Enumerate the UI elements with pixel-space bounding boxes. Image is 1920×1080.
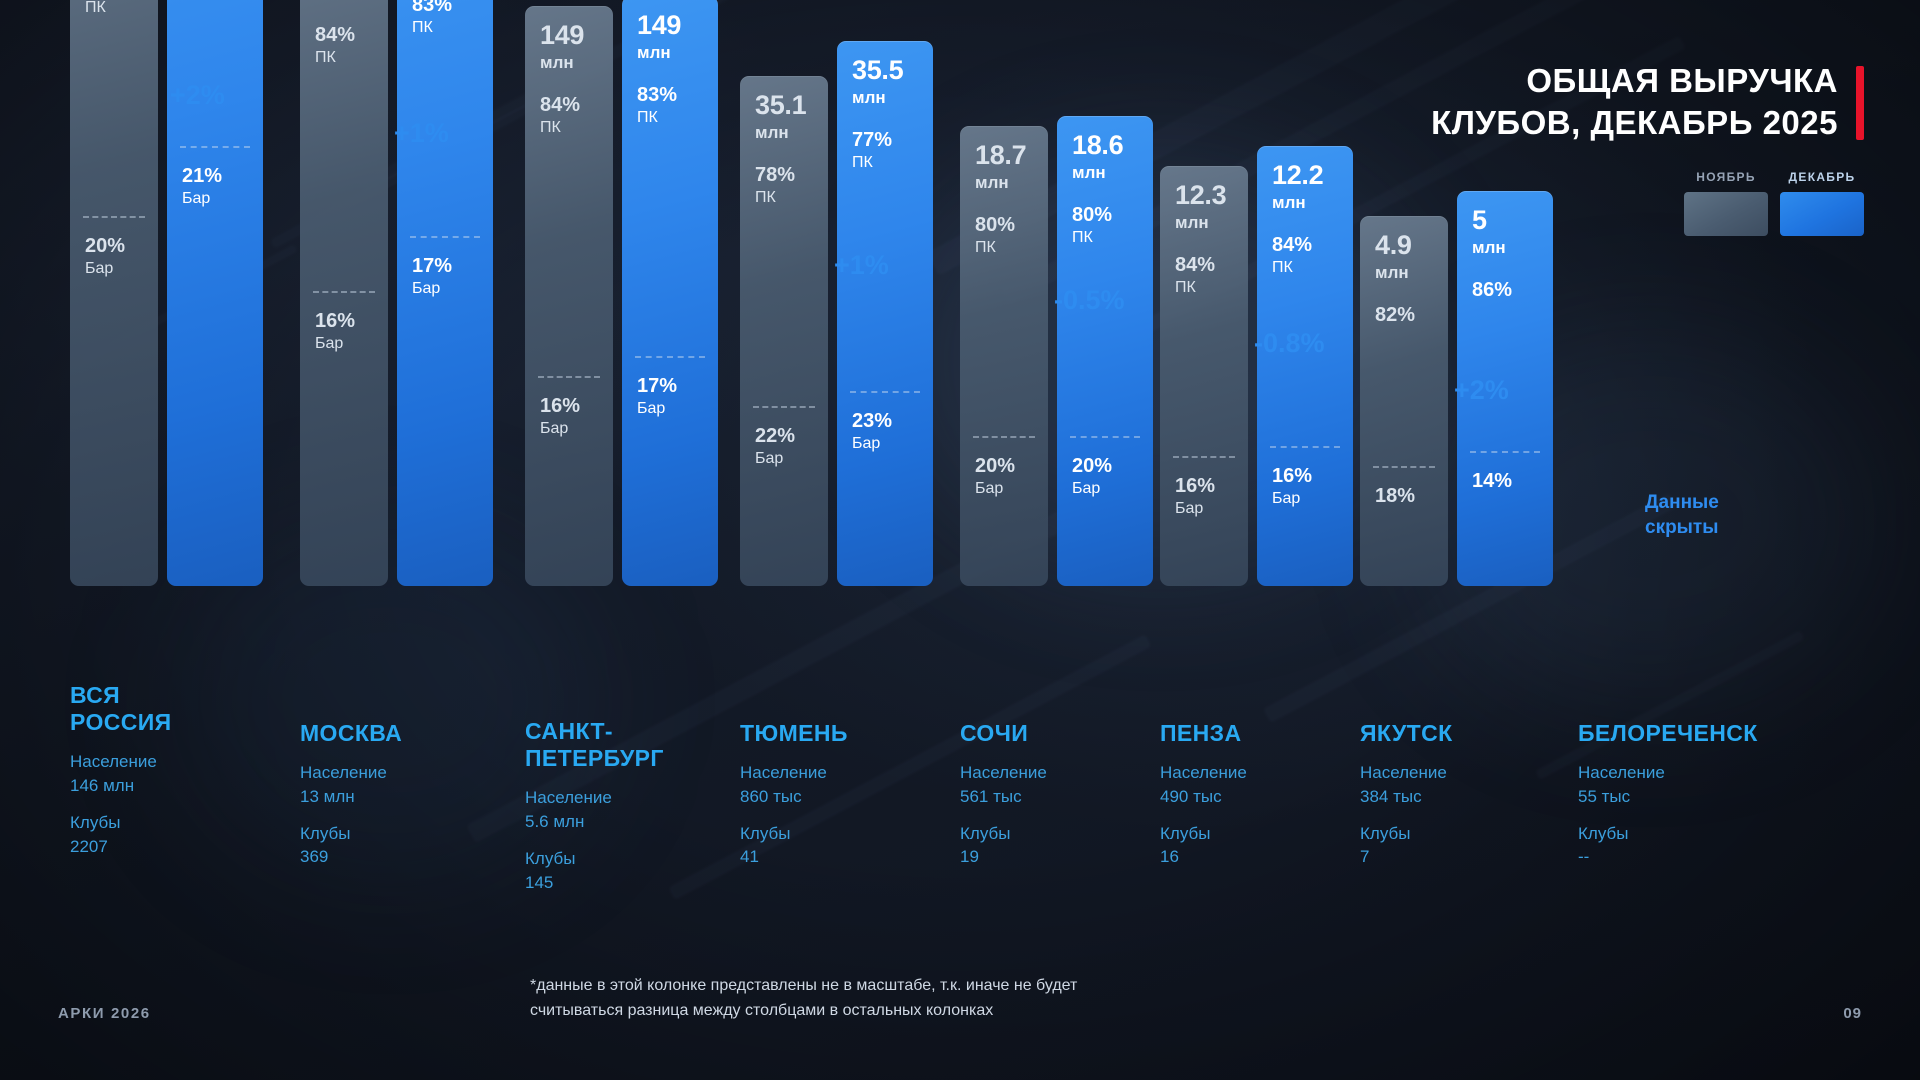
bar-bar-section: 20%Бар: [1072, 456, 1112, 499]
city-population: Население146 млн: [70, 750, 172, 797]
bar-group: 18.7млн80%ПК20%Бар18.6млн80%ПК20%Бар-0.5…: [960, 0, 1190, 1080]
bar-bar-label: Бар: [637, 399, 677, 419]
bar-unit: млн: [1272, 192, 1338, 213]
bar-split-divider: [1070, 436, 1140, 438]
bar-bar-label: Бар: [540, 419, 580, 439]
bar-pc-label: ПК: [755, 188, 813, 208]
clubs-label: Клубы: [1360, 822, 1453, 845]
population-label: Население: [960, 761, 1047, 784]
bar-unit: млн: [755, 122, 813, 143]
clubs-value: 19: [960, 845, 1047, 868]
legend-label-november: НОЯБРЬ: [1696, 170, 1756, 184]
population-value: 13 млн: [300, 785, 402, 808]
bar-bar-percent: 16%: [1272, 466, 1312, 487]
bar-pc-percent: 80%: [1072, 205, 1138, 226]
bar-value: 18.7: [975, 142, 1033, 169]
bar-value: 4.9: [1375, 232, 1433, 259]
bar-split-divider: [850, 391, 920, 393]
bar-bar-label: Бар: [182, 189, 222, 209]
bar-pair: 12.3млн84%ПК16%Бар12.2млн84%ПК16%Бар: [1160, 146, 1353, 586]
bar-bar-section: 17%Бар: [637, 376, 677, 419]
city-clubs: Клубы--: [1578, 822, 1758, 869]
bar-unit: млн: [637, 42, 703, 63]
bar-bar-percent: 20%: [1072, 456, 1112, 477]
bar-group: 1 921млн80%ПК20%Бар1 952млн79%ПК21%Бар+2…: [70, 0, 300, 1080]
population-label: Население: [525, 786, 664, 809]
clubs-label: Клубы: [1578, 822, 1758, 845]
bar-november[interactable]: 4.9млн82%18%: [1360, 216, 1448, 586]
bar-split-divider: [1373, 466, 1435, 468]
bar-bar-percent: 16%: [540, 396, 580, 417]
bar-bar-section: 16%Бар: [1175, 476, 1215, 519]
bar-pc-percent: 84%: [315, 25, 373, 46]
page-title-line1: ОБЩАЯ ВЫРУЧКА: [1431, 60, 1838, 102]
bar-november[interactable]: 1 921млн80%ПК20%Бар: [70, 0, 158, 586]
bar-bar-label: Бар: [1072, 479, 1112, 499]
page-title-line2: КЛУБОВ, ДЕКАБРЬ 2025: [1431, 102, 1838, 144]
bar-split-divider: [538, 376, 600, 378]
bar-pc-label: ПК: [852, 153, 918, 173]
city-stats: Население561 тысКлубы19: [960, 761, 1047, 869]
bar-split-divider: [753, 406, 815, 408]
bar-group: 12.3млн84%ПК16%Бар12.2млн84%ПК16%Бар-0.8…: [1160, 0, 1390, 1080]
clubs-value: 145: [525, 871, 664, 894]
bar-pc-percent: 78%: [755, 165, 813, 186]
city-name: БЕЛОРЕЧЕНСК: [1578, 720, 1758, 747]
page-title: ОБЩАЯ ВЫРУЧКА КЛУБОВ, ДЕКАБРЬ 2025: [1431, 60, 1838, 144]
population-label: Население: [740, 761, 848, 784]
city-block: ВСЯ РОССИЯНаселение146 млнКлубы2207: [70, 682, 172, 872]
bar-december[interactable]: 35.5млн77%ПК23%Бар: [837, 41, 933, 586]
chart-legend: НОЯБРЬ ДЕКАБРЬ: [1684, 170, 1864, 236]
bar-pc-percent: 82%: [1375, 305, 1433, 326]
city-name: ВСЯ РОССИЯ: [70, 682, 172, 736]
city-block: САНКТ- ПЕТЕРБУРГНаселение5.6 млнКлубы145: [525, 718, 664, 908]
bar-pair: 18.7млн80%ПК20%Бар18.6млн80%ПК20%Бар: [960, 116, 1153, 586]
bar-bar-percent: 23%: [852, 411, 892, 432]
city-stats: Население146 млнКлубы2207: [70, 750, 172, 858]
bar-group: 4.9млн82%18%5млн86%14%+2%ЯКУТСКНаселение…: [1360, 0, 1590, 1080]
bar-pc-percent: 86%: [1472, 280, 1538, 301]
bar-bar-section: 23%Бар: [852, 411, 892, 454]
bar-value: 5: [1472, 207, 1538, 234]
city-clubs: Клубы369: [300, 822, 402, 869]
city-stats: Население13 млнКлубы369: [300, 761, 402, 869]
city-block: МОСКВАНаселение13 млнКлубы369: [300, 720, 402, 883]
bar-value: 149: [540, 22, 598, 49]
bar-split-divider: [973, 436, 1035, 438]
city-name: СОЧИ: [960, 720, 1047, 747]
city-name: ТЮМЕНЬ: [740, 720, 848, 747]
bar-bar-label: Бар: [412, 279, 452, 299]
bar-unit: млн: [540, 52, 598, 73]
city-clubs: Клубы2207: [70, 811, 172, 858]
legend-swatch-december: [1780, 192, 1864, 236]
clubs-label: Клубы: [300, 822, 402, 845]
bar-bar-label: Бар: [1175, 499, 1215, 519]
page-header: ОБЩАЯ ВЫРУЧКА КЛУБОВ, ДЕКАБРЬ 2025: [1431, 60, 1864, 144]
delta-badge: +1%: [394, 118, 449, 149]
bar-value: 35.5: [852, 57, 918, 84]
bar-bar-label: Бар: [315, 334, 355, 354]
city-block: ПЕНЗАНаселение490 тысКлубы16: [1160, 720, 1247, 883]
city-stats: Население490 тысКлубы16: [1160, 761, 1247, 869]
bar-pc-label: ПК: [1072, 228, 1138, 248]
bar-bar-percent: 17%: [637, 376, 677, 397]
bar-value: 149: [637, 12, 703, 39]
bar-chart: 1 921млн80%ПК20%Бар1 952млн79%ПК21%Бар+2…: [0, 0, 1920, 1080]
bar-pc-label: ПК: [315, 48, 373, 68]
population-label: Население: [1578, 761, 1758, 784]
bar-value: 35.1: [755, 92, 813, 119]
bar-pc-label: ПК: [412, 18, 478, 38]
chart-footnote: *данные в этой колонке представлены не в…: [530, 974, 1077, 1024]
bar-split-divider: [1470, 451, 1540, 453]
bar-pair: 430млн84%ПК16%Бар435млн83%ПК17%Бар: [300, 0, 493, 586]
city-population: Население55 тыс: [1578, 761, 1758, 808]
city-clubs: Клубы16: [1160, 822, 1247, 869]
bar-pc-label: ПК: [1175, 278, 1233, 298]
bar-bar-percent: 20%: [85, 236, 125, 257]
city-block: ТЮМЕНЬНаселение860 тысКлубы41: [740, 720, 848, 883]
city-population: Население860 тыс: [740, 761, 848, 808]
bar-unit: млн: [1175, 212, 1233, 233]
city-name: ПЕНЗА: [1160, 720, 1247, 747]
clubs-value: 7: [1360, 845, 1453, 868]
bar-pc-percent: 80%: [975, 215, 1033, 236]
bar-group: 149млн84%ПК16%Бар149млн83%ПК17%БарСАНКТ-…: [525, 0, 755, 1080]
population-label: Население: [1160, 761, 1247, 784]
bar-unit: млн: [852, 87, 918, 108]
population-label: Население: [1360, 761, 1453, 784]
bar-bar-section: 16%Бар: [315, 311, 355, 354]
bar-bar-section: 20%Бар: [975, 456, 1015, 499]
bar-bar-label: Бар: [1272, 489, 1312, 509]
bar-december[interactable]: 12.2млн84%ПК16%Бар: [1257, 146, 1353, 586]
hidden-data-note: Данные скрыты: [1645, 490, 1719, 540]
clubs-value: --: [1578, 845, 1758, 868]
bar-december[interactable]: 435млн83%ПК17%Бар: [397, 0, 493, 586]
bar-unit: млн: [315, 0, 373, 3]
bar-value: 12.2: [1272, 162, 1338, 189]
population-value: 55 тыс: [1578, 785, 1758, 808]
bar-november[interactable]: 35.1млн78%ПК22%Бар: [740, 76, 828, 586]
bar-november[interactable]: 12.3млн84%ПК16%Бар: [1160, 166, 1248, 586]
bar-pc-percent: 83%: [412, 0, 478, 16]
bar-december[interactable]: 149млн83%ПК17%Бар: [622, 0, 718, 586]
bar-november[interactable]: 430млн84%ПК16%Бар: [300, 0, 388, 586]
bar-unit: млн: [1472, 237, 1538, 258]
city-clubs: Клубы145: [525, 847, 664, 894]
population-label: Население: [70, 750, 172, 773]
bar-bar-section: 18%: [1375, 486, 1415, 507]
bar-pc-label: ПК: [637, 108, 703, 128]
bar-pc-label: ПК: [975, 238, 1033, 258]
bar-bar-percent: 22%: [755, 426, 795, 447]
city-clubs: Клубы19: [960, 822, 1047, 869]
bar-unit: млн: [1072, 162, 1138, 183]
population-value: 5.6 млн: [525, 810, 664, 833]
legend-item-december[interactable]: ДЕКАБРЬ: [1780, 170, 1864, 236]
bar-split-divider: [635, 356, 705, 358]
bar-bar-percent: 16%: [315, 311, 355, 332]
clubs-value: 369: [300, 845, 402, 868]
bar-pc-label: ПК: [1272, 258, 1338, 278]
bar-split-divider: [180, 146, 250, 148]
bar-bar-section: 16%Бар: [540, 396, 580, 439]
city-population: Население5.6 млн: [525, 786, 664, 833]
city-stats: Население5.6 млнКлубы145: [525, 786, 664, 894]
delta-badge: +1%: [834, 250, 889, 281]
bar-split-divider: [1270, 446, 1340, 448]
bar-bar-percent: 20%: [975, 456, 1015, 477]
page-number: 09: [1843, 1005, 1862, 1022]
bar-bar-percent: 18%: [1375, 486, 1415, 507]
city-population: Население13 млн: [300, 761, 402, 808]
city-population: Население561 тыс: [960, 761, 1047, 808]
legend-swatch-november: [1684, 192, 1768, 236]
population-value: 384 тыс: [1360, 785, 1453, 808]
bar-pc-label: ПК: [540, 118, 598, 138]
bar-unit: млн: [1375, 262, 1433, 283]
bar-november[interactable]: 18.7млн80%ПК20%Бар: [960, 126, 1048, 586]
clubs-label: Клубы: [740, 822, 848, 845]
clubs-label: Клубы: [960, 822, 1047, 845]
bar-pc-percent: 84%: [1175, 255, 1233, 276]
clubs-label: Клубы: [70, 811, 172, 834]
city-name: ЯКУТСК: [1360, 720, 1453, 747]
bar-bar-section: 17%Бар: [412, 256, 452, 299]
clubs-label: Клубы: [525, 847, 664, 870]
bar-pair: 35.1млн78%ПК22%Бар35.5млн77%ПК23%Бар: [740, 41, 933, 586]
bar-pc-percent: 84%: [540, 95, 598, 116]
bar-bar-section: 21%Бар: [182, 166, 222, 209]
bar-bar-label: Бар: [755, 449, 795, 469]
clubs-value: 2207: [70, 835, 172, 858]
bar-bar-label: Бар: [975, 479, 1015, 499]
bar-bar-percent: 17%: [412, 256, 452, 277]
legend-label-december: ДЕКАБРЬ: [1789, 170, 1856, 184]
population-label: Население: [300, 761, 402, 784]
bar-bar-percent: 14%: [1472, 471, 1512, 492]
bar-pc-percent: 83%: [637, 85, 703, 106]
clubs-value: 41: [740, 845, 848, 868]
population-value: 146 млн: [70, 774, 172, 797]
bar-unit: млн: [975, 172, 1033, 193]
bar-bar-label: Бар: [85, 259, 125, 279]
bar-bar-section: 20%Бар: [85, 236, 125, 279]
city-name: САНКТ- ПЕТЕРБУРГ: [525, 718, 664, 772]
bar-pc-percent: 77%: [852, 130, 918, 151]
clubs-value: 16: [1160, 845, 1247, 868]
city-block: БЕЛОРЕЧЕНСКНаселение55 тысКлубы--: [1578, 720, 1758, 883]
bar-december[interactable]: 18.6млн80%ПК20%Бар: [1057, 116, 1153, 586]
bar-pc-label: ПК: [85, 0, 143, 18]
bar-bar-section: 22%Бар: [755, 426, 795, 469]
delta-badge: -0.8%: [1254, 328, 1325, 359]
bar-split-divider: [313, 291, 375, 293]
bar-group: 35.1млн78%ПК22%Бар35.5млн77%ПК23%Бар+1%Т…: [740, 0, 970, 1080]
bar-bar-section: 14%: [1472, 471, 1512, 492]
bar-pair: 1 921млн80%ПК20%Бар1 952млн79%ПК21%Бар: [70, 0, 263, 586]
bar-split-divider: [1173, 456, 1235, 458]
city-stats: Население55 тысКлубы--: [1578, 761, 1758, 869]
population-value: 860 тыс: [740, 785, 848, 808]
city-stats: Население384 тысКлубы7: [1360, 761, 1453, 869]
bar-group: 430млн84%ПК16%Бар435млн83%ПК17%Бар+1%МОС…: [300, 0, 530, 1080]
bar-bar-percent: 16%: [1175, 476, 1215, 497]
red-accent-bar: [1856, 66, 1864, 140]
bar-split-divider: [410, 236, 480, 238]
city-population: Население490 тыс: [1160, 761, 1247, 808]
city-stats: Население860 тысКлубы41: [740, 761, 848, 869]
bar-value: 12.3: [1175, 182, 1233, 209]
city-clubs: Клубы7: [1360, 822, 1453, 869]
city-name: МОСКВА: [300, 720, 402, 747]
delta-badge: -0.5%: [1054, 285, 1125, 316]
population-value: 561 тыс: [960, 785, 1047, 808]
city-population: Население384 тыс: [1360, 761, 1453, 808]
bar-pair: 149млн84%ПК16%Бар149млн83%ПК17%Бар: [525, 0, 718, 586]
delta-badge: +2%: [1454, 375, 1509, 406]
bar-value: 18.6: [1072, 132, 1138, 159]
delta-badge: +2%: [170, 80, 225, 111]
brand-label: АРКИ 2026: [58, 1005, 151, 1022]
population-value: 490 тыс: [1160, 785, 1247, 808]
bar-split-divider: [83, 216, 145, 218]
bar-bar-percent: 21%: [182, 166, 222, 187]
bar-november[interactable]: 149млн84%ПК16%Бар: [525, 6, 613, 586]
bar-bar-label: Бар: [852, 434, 892, 454]
bar-bar-section: 16%Бар: [1272, 466, 1312, 509]
city-block: ЯКУТСКНаселение384 тысКлубы7: [1360, 720, 1453, 883]
bar-pc-percent: 84%: [1272, 235, 1338, 256]
city-clubs: Клубы41: [740, 822, 848, 869]
legend-item-november[interactable]: НОЯБРЬ: [1684, 170, 1768, 236]
city-block: СОЧИНаселение561 тысКлубы19: [960, 720, 1047, 883]
clubs-label: Клубы: [1160, 822, 1247, 845]
